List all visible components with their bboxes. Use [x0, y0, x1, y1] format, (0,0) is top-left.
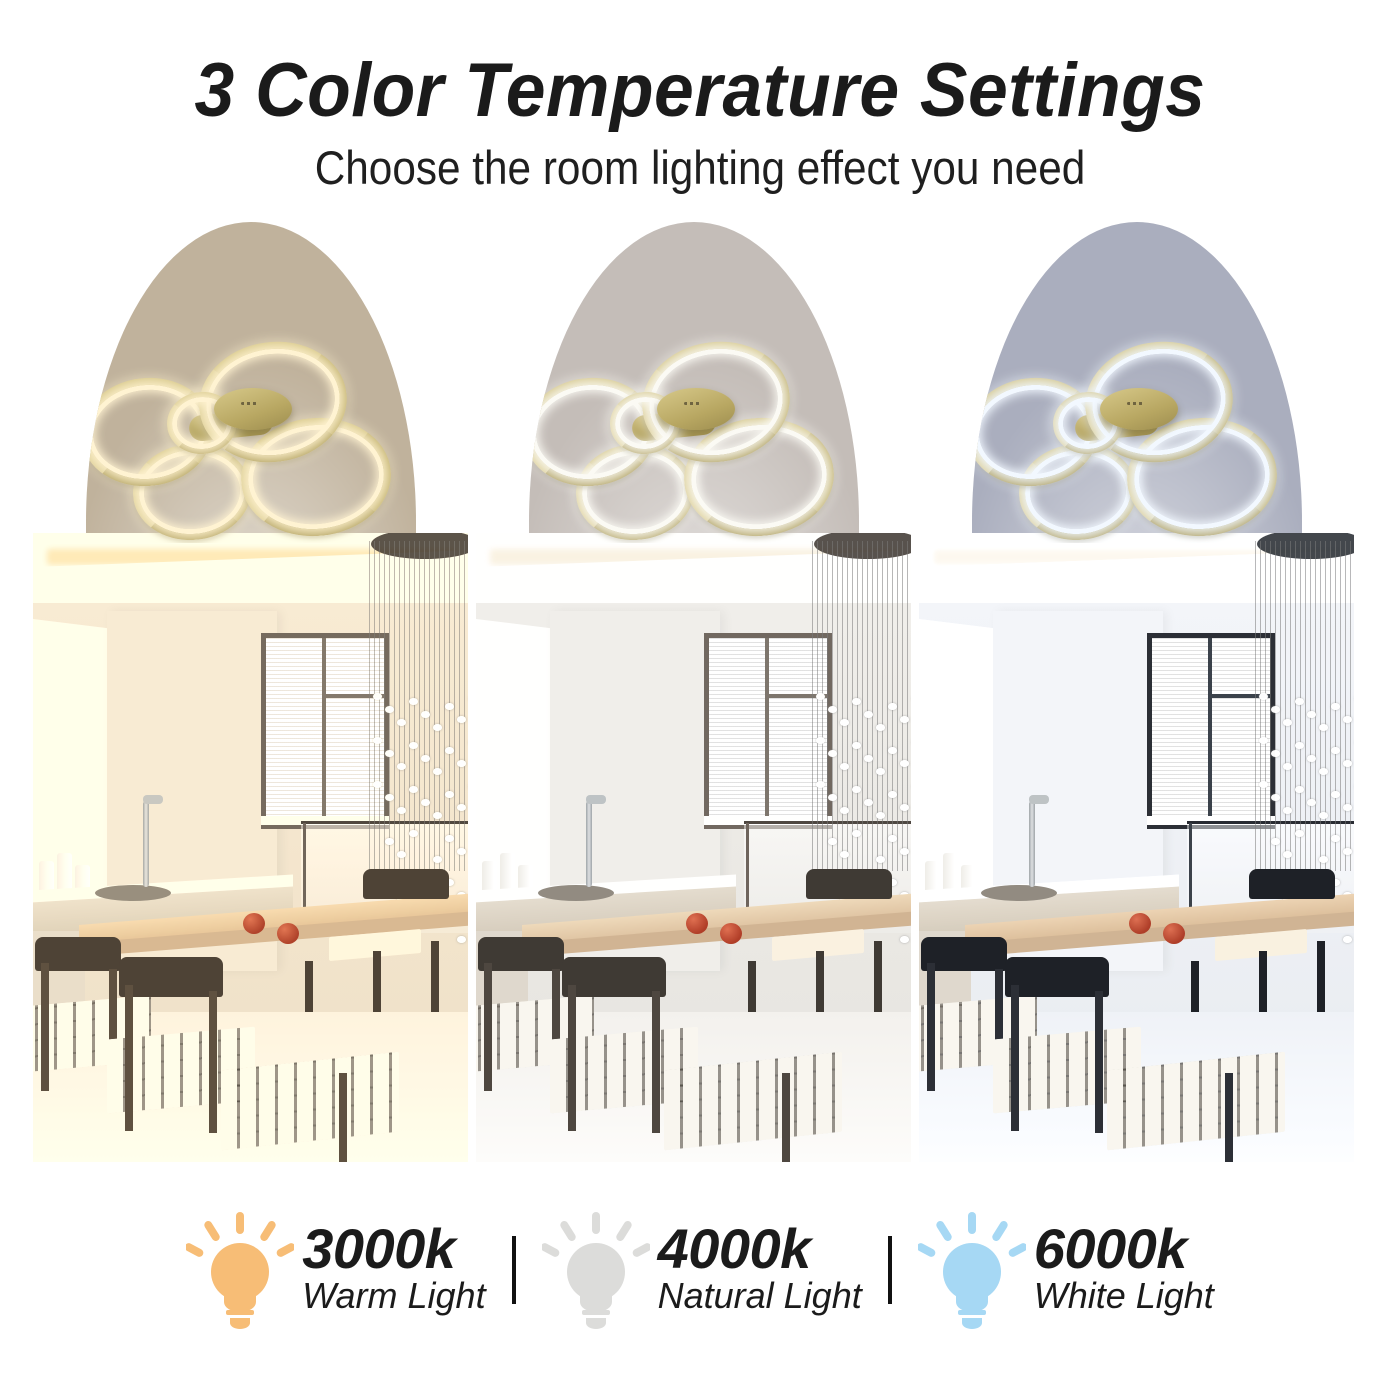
ceiling-light-fixture — [86, 340, 416, 543]
chandelier-bead — [457, 848, 466, 855]
legend-divider — [512, 1236, 516, 1304]
sink-basin — [981, 885, 1057, 901]
scene-panel-3000k — [33, 213, 468, 1162]
chandelier-bead — [828, 794, 837, 801]
chair-backrest — [562, 957, 666, 997]
chandelier-bead — [385, 706, 394, 713]
chair-leg — [1095, 991, 1103, 1133]
chandelier-bead — [373, 781, 382, 788]
fixture-hub — [214, 388, 292, 430]
panel-row — [33, 213, 1355, 1162]
faucet-head — [1029, 795, 1049, 804]
color-temperature-legend: 3000k Warm Light 4000k Natural Light — [0, 1195, 1400, 1345]
chandelier-bead — [373, 737, 382, 744]
chandelier-bead — [1331, 703, 1340, 710]
chandelier-bead — [433, 856, 442, 863]
chandelier-bead — [397, 763, 406, 770]
bulb-icon-wrap — [542, 1210, 650, 1330]
chandelier-bead — [876, 768, 885, 775]
chandelier-bead — [385, 838, 394, 845]
chandelier-bead — [816, 781, 825, 788]
chair-leg — [41, 963, 49, 1091]
apple — [277, 923, 299, 944]
chandelier-bead — [385, 750, 394, 757]
chandelier-bead — [888, 747, 897, 754]
chair-backrest — [1249, 869, 1335, 899]
bulb-icon-wrap — [186, 1210, 294, 1330]
apple — [720, 923, 742, 944]
chandelier-bead — [1271, 706, 1280, 713]
chandelier-bead — [1343, 936, 1352, 943]
chandelier-bead — [816, 693, 825, 700]
room-scene — [476, 533, 911, 1162]
chandelier-bead — [457, 760, 466, 767]
chair-leg — [927, 963, 935, 1091]
chandelier-bead — [1271, 838, 1280, 845]
chandelier-bead — [852, 742, 861, 749]
chandelier-bead — [1271, 750, 1280, 757]
chair-backrest — [1005, 957, 1109, 997]
chandelier-bead — [445, 835, 454, 842]
chandelier-bead — [900, 804, 909, 811]
chandelier-bead — [397, 807, 406, 814]
header: 3 Color Temperature Settings Choose the … — [0, 0, 1400, 196]
legend-divider — [888, 1236, 892, 1304]
fixture-indicator-dots — [1127, 402, 1143, 405]
page-subtitle: Choose the room lighting effect you need — [70, 140, 1330, 196]
light-mood-label: Warm Light — [302, 1275, 485, 1317]
chandelier-bead — [828, 706, 837, 713]
chandelier-bead — [457, 716, 466, 723]
product-infographic: 3 Color Temperature Settings Choose the … — [0, 0, 1400, 1400]
kelvin-value: 4000k — [658, 1223, 862, 1275]
chandelier-bead — [840, 719, 849, 726]
chandelier-bead — [433, 724, 442, 731]
chandelier-bead — [876, 856, 885, 863]
lightbulb-icon — [918, 1210, 1026, 1330]
chandelier-bead — [888, 835, 897, 842]
chandelier-bead — [373, 693, 382, 700]
chandelier-bead — [1259, 737, 1268, 744]
chandelier-bead — [433, 812, 442, 819]
chandelier-bead — [409, 786, 418, 793]
faucet — [1029, 801, 1035, 887]
arch-mask — [86, 222, 416, 543]
chair-leg — [209, 991, 217, 1133]
ceiling-light-fixture — [529, 340, 859, 543]
faucet-head — [143, 795, 163, 804]
chair-leg — [125, 985, 133, 1131]
chandelier-bead — [1283, 719, 1292, 726]
chandelier-bead — [1295, 698, 1304, 705]
chandelier-bead — [1319, 724, 1328, 731]
legend-text: 3000k Warm Light — [302, 1223, 485, 1317]
arched-ceiling-photo — [919, 213, 1354, 543]
legend-item-4000k[interactable]: 4000k Natural Light — [542, 1210, 862, 1330]
arch-mask — [529, 222, 859, 543]
bench-leg — [782, 1073, 790, 1162]
lightbulb-icon — [186, 1210, 294, 1330]
chandelier-bead — [445, 791, 454, 798]
chandelier-beads — [1255, 653, 1354, 883]
chandelier-bead — [864, 711, 873, 718]
chandelier-bead — [1259, 693, 1268, 700]
chandelier-bead — [852, 698, 861, 705]
chandelier-bead — [1343, 760, 1352, 767]
arched-ceiling-photo — [33, 213, 468, 543]
page-title: 3 Color Temperature Settings — [42, 48, 1358, 134]
chandelier-bead — [1319, 768, 1328, 775]
chair-backrest — [119, 957, 223, 997]
chandelier-bead — [1343, 716, 1352, 723]
chandelier-bead — [900, 760, 909, 767]
chandelier-bead — [397, 851, 406, 858]
window-mullion-vertical — [1208, 638, 1212, 824]
chandelier-bead — [457, 936, 466, 943]
chair-leg — [652, 991, 660, 1133]
legend-item-6000k[interactable]: 6000k White Light — [918, 1210, 1214, 1330]
chandelier-bead — [1331, 747, 1340, 754]
sink-basin — [538, 885, 614, 901]
chandelier-bead — [1343, 804, 1352, 811]
chandelier-bead — [1295, 742, 1304, 749]
scene-panel-6000k — [919, 213, 1354, 1162]
apple — [1163, 923, 1185, 944]
chandelier-bead — [1343, 848, 1352, 855]
chandelier-beads — [812, 653, 911, 883]
chandelier-bead — [1295, 786, 1304, 793]
chandelier-bead — [900, 716, 909, 723]
faucet — [586, 801, 592, 887]
fixture-indicator-dots — [241, 402, 257, 405]
window-mullion-vertical — [765, 638, 769, 824]
chandelier-bead — [1331, 835, 1340, 842]
arched-ceiling-photo — [476, 213, 911, 543]
chandelier-bead — [888, 703, 897, 710]
apple — [1129, 913, 1151, 934]
chandelier-bead — [457, 804, 466, 811]
chandelier-bead — [876, 812, 885, 819]
chandelier-bead — [385, 794, 394, 801]
chandelier-bead — [828, 750, 837, 757]
chandelier-bead — [1307, 755, 1316, 762]
fixture-hub — [1100, 388, 1178, 430]
apple — [686, 913, 708, 934]
chandelier-bead — [433, 768, 442, 775]
chandelier-bead — [397, 719, 406, 726]
chandelier-bead — [900, 936, 909, 943]
room-scene — [33, 533, 468, 1162]
chandelier-bead — [816, 737, 825, 744]
chair-backrest — [806, 869, 892, 899]
bench-leg — [339, 1073, 347, 1162]
chandelier-bead — [864, 799, 873, 806]
chandelier-bead — [409, 830, 418, 837]
chair-leg — [1011, 985, 1019, 1131]
faucet — [143, 801, 149, 887]
kelvin-value: 6000k — [1034, 1223, 1214, 1275]
arch-mask — [972, 222, 1302, 543]
lightbulb-icon — [542, 1210, 650, 1330]
chair-backrest — [363, 869, 449, 899]
light-mood-label: Natural Light — [658, 1275, 862, 1317]
apple — [243, 913, 265, 934]
fixture-indicator-dots — [684, 402, 700, 405]
light-mood-label: White Light — [1034, 1275, 1214, 1317]
chandelier-bead — [1307, 711, 1316, 718]
chandelier-bead — [1319, 856, 1328, 863]
chandelier-bead — [864, 755, 873, 762]
chandelier-bead — [409, 698, 418, 705]
chandelier-bead — [840, 807, 849, 814]
fixture-hub — [657, 388, 735, 430]
ceiling-light-fixture — [972, 340, 1302, 543]
kelvin-value: 3000k — [302, 1223, 485, 1275]
chair-leg — [484, 963, 492, 1091]
chandelier-bead — [1295, 830, 1304, 837]
window-mullion-vertical — [322, 638, 326, 824]
chandelier-bead — [445, 703, 454, 710]
chandelier-bead — [421, 799, 430, 806]
legend-text: 6000k White Light — [1034, 1223, 1214, 1317]
scene-panel-4000k — [476, 213, 911, 1162]
chandelier-bead — [1283, 763, 1292, 770]
chandelier-bead — [852, 830, 861, 837]
chandelier-bead — [852, 786, 861, 793]
chandelier-bead — [1259, 781, 1268, 788]
legend-text: 4000k Natural Light — [658, 1223, 862, 1317]
chandelier-bead — [828, 838, 837, 845]
bulb-icon-wrap — [918, 1210, 1026, 1330]
chandelier-bead — [1283, 851, 1292, 858]
faucet-head — [586, 795, 606, 804]
chandelier-bead — [1319, 812, 1328, 819]
chandelier-bead — [421, 711, 430, 718]
room-scene — [919, 533, 1354, 1162]
chandelier-bead — [876, 724, 885, 731]
sink-basin — [95, 885, 171, 901]
chandelier-bead — [900, 848, 909, 855]
chandelier-bead — [1307, 799, 1316, 806]
chandelier-bead — [1331, 791, 1340, 798]
chair-leg — [568, 985, 576, 1131]
chandelier-bead — [421, 755, 430, 762]
chandelier-bead — [1283, 807, 1292, 814]
chandelier-bead — [840, 851, 849, 858]
chandelier-bead — [409, 742, 418, 749]
legend-item-3000k[interactable]: 3000k Warm Light — [186, 1210, 485, 1330]
bench-leg — [1225, 1073, 1233, 1162]
chandelier-bead — [1271, 794, 1280, 801]
chandelier-bead — [445, 747, 454, 754]
chandelier-beads — [369, 653, 468, 883]
chandelier-bead — [840, 763, 849, 770]
chandelier-bead — [888, 791, 897, 798]
